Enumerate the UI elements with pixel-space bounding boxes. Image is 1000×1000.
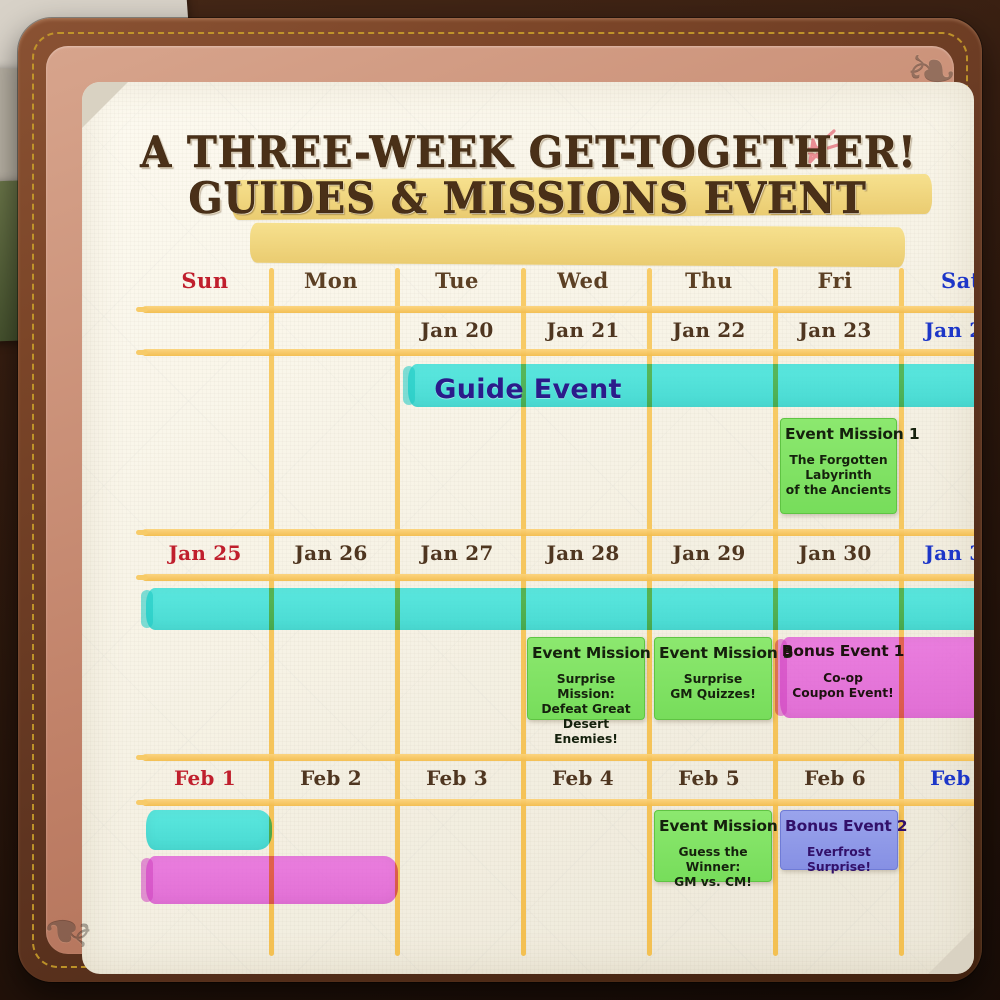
poster-root: ❧ ❧ A THREE-WEEK GET-TOGETHER! xyxy=(0,0,1000,1000)
card-bonus-event-2[interactable]: Bonus Event 2 Everfrost Surprise! xyxy=(780,810,898,870)
date-cell: Jan 20 xyxy=(394,318,520,342)
poster-title: A THREE-WEEK GET-TOGETHER! GUIDES & MISS… xyxy=(82,130,974,223)
day-name-wed: Wed xyxy=(520,268,646,293)
card-event-mission-4[interactable]: Event Mission 4 Guess the Winner: GM vs.… xyxy=(654,810,772,882)
grid-rule xyxy=(142,574,974,581)
date-cell: Jan 21 xyxy=(520,318,646,342)
date-cell: Feb 7 xyxy=(898,766,974,790)
day-name-sun: Sun xyxy=(142,268,268,293)
day-name-row: Sun Mon Tue Wed Thu Fri Sat xyxy=(142,268,974,308)
date-cell: Feb 2 xyxy=(268,766,394,790)
card-description: Guess the Winner: GM vs. CM! xyxy=(659,845,767,890)
card-description: Co-op Coupon Event! xyxy=(780,671,906,701)
date-cell: Jan 26 xyxy=(268,541,394,565)
date-cell: Jan 30 xyxy=(772,541,898,565)
date-cell: Feb 5 xyxy=(646,766,772,790)
date-cell: Feb 1 xyxy=(142,766,268,790)
bar-cap xyxy=(141,858,153,902)
day-name-thu: Thu xyxy=(646,268,772,293)
inner-mat: A THREE-WEEK GET-TOGETHER! GUIDES & MISS… xyxy=(46,46,954,954)
card-title: Event Mission 3 xyxy=(659,644,767,662)
date-cell: Jan 24 xyxy=(898,318,974,342)
date-cell: Feb 4 xyxy=(520,766,646,790)
card-title: Bonus Event 1 xyxy=(780,642,906,660)
card-description: Surprise GM Quizzes! xyxy=(659,672,767,702)
title-line-2: GUIDES & MISSIONS EVENT xyxy=(174,176,882,222)
card-title: Event Mission 1 xyxy=(785,425,892,443)
day-name-sat: Sat xyxy=(898,268,974,293)
date-cell: Jan 29 xyxy=(646,541,772,565)
grid-rule xyxy=(142,754,974,761)
bonus-event-1-bar-week3 xyxy=(146,856,398,904)
grid-rule xyxy=(142,306,974,313)
card-event-mission-1[interactable]: Event Mission 1 The Forgotten Labyrinth … xyxy=(780,418,897,514)
bar-cap xyxy=(141,590,153,628)
grid-rule xyxy=(142,799,974,806)
date-cell: Jan 22 xyxy=(646,318,772,342)
poster-content: A THREE-WEEK GET-TOGETHER! GUIDES & MISS… xyxy=(82,82,974,974)
leather-frame: ❧ ❧ A THREE-WEEK GET-TOGETHER! xyxy=(18,18,982,982)
date-cell: Feb 6 xyxy=(772,766,898,790)
day-name-mon: Mon xyxy=(268,268,394,293)
day-name-fri: Fri xyxy=(772,268,898,293)
card-title: Event Mission 2 xyxy=(532,644,640,662)
card-title: Event Mission 4 xyxy=(659,817,767,835)
date-cell: Feb 3 xyxy=(394,766,520,790)
card-description: Everfrost Surprise! xyxy=(785,845,893,875)
guide-event-bar-week2 xyxy=(146,588,974,630)
title-line-1: A THREE-WEEK GET-TOGETHER! xyxy=(125,130,931,176)
title-highlight-stroke xyxy=(250,223,905,268)
card-event-mission-3[interactable]: Event Mission 3 Surprise GM Quizzes! xyxy=(654,637,772,720)
card-description: Surprise Mission: Defeat Great Desert En… xyxy=(532,672,640,747)
date-cell: Jan 23 xyxy=(772,318,898,342)
card-title: Bonus Event 2 xyxy=(785,817,893,835)
date-cell: Jan 27 xyxy=(394,541,520,565)
bonus-event-1-text: Bonus Event 1 Co-op Coupon Event! xyxy=(780,642,906,701)
guide-event-bar-week3 xyxy=(146,810,272,850)
grid-rule xyxy=(142,349,974,356)
date-cell: Jan 28 xyxy=(520,541,646,565)
date-cell: Jan 31 xyxy=(898,541,974,565)
card-event-mission-2[interactable]: Event Mission 2 Surprise Mission: Defeat… xyxy=(527,637,645,720)
guide-event-label: Guide Event xyxy=(82,374,974,405)
day-name-tue: Tue xyxy=(394,268,520,293)
paper-sheet: A THREE-WEEK GET-TOGETHER! GUIDES & MISS… xyxy=(82,82,974,974)
grid-rule xyxy=(142,529,974,536)
date-cell: Jan 25 xyxy=(142,541,268,565)
card-description: The Forgotten Labyrinth of the Ancients xyxy=(785,453,892,498)
